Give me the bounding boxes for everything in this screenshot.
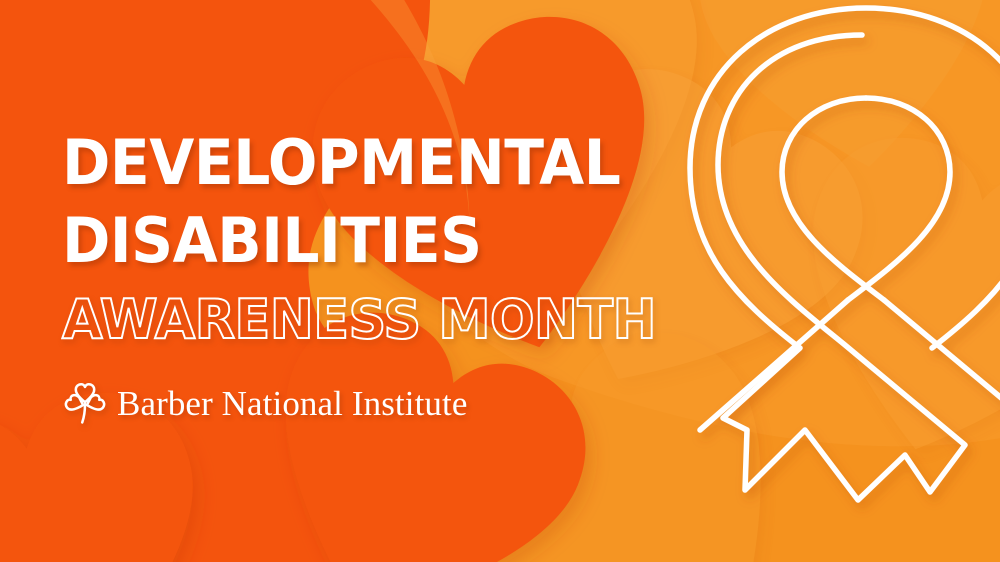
barber-national-institute-logo: Barber National Institute (62, 381, 467, 427)
headline-line-2: DISABILITIES (62, 210, 482, 272)
headline-line-3: AWARENESS MONTH (62, 293, 656, 347)
awareness-month-banner: DEVELOPMENTAL DISABILITIES AWARENESS MON… (0, 0, 1000, 562)
headline-line-1: DEVELOPMENTAL (62, 132, 620, 194)
awareness-ribbon-outline (0, 0, 1000, 562)
logo-wordmark: Barber National Institute (117, 384, 467, 424)
shamrock-heart-clover-icon (62, 381, 108, 427)
